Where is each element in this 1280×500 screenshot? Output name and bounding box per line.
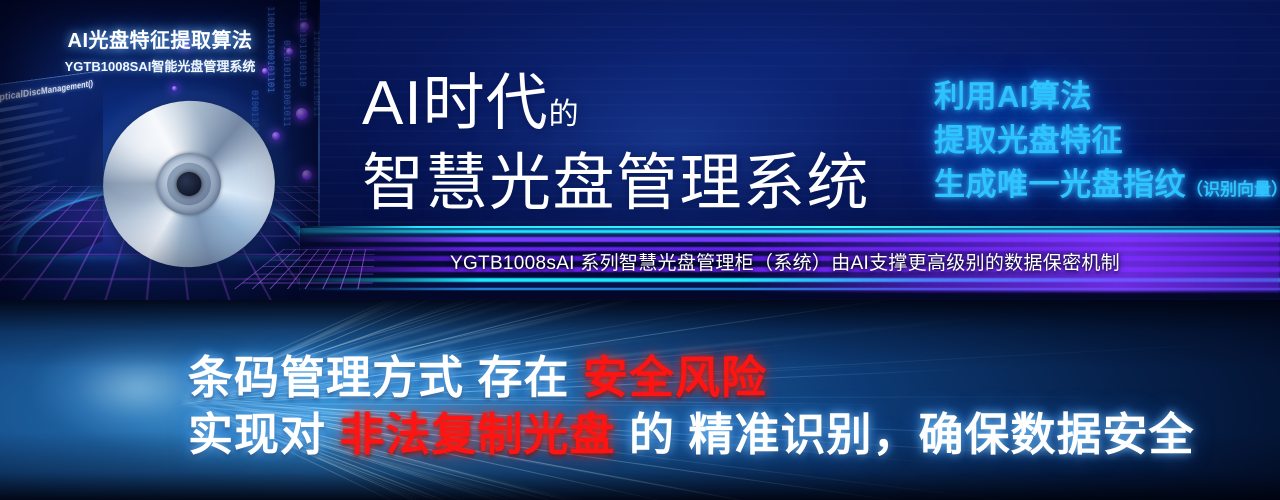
feature-line-1-text: 利用AI算法 — [934, 79, 1092, 114]
feature-line-2-text: 提取光盘特征 — [934, 123, 1123, 158]
feature-line-1: 利用AI算法 — [934, 78, 1092, 116]
bottom-headline-2-part1: 实现对 — [188, 409, 340, 460]
inset-subtitle: YGTB1008SAI智能光盘管理系统 — [0, 56, 320, 75]
bottom-headline-1-part1: 条码管理方式 存在 — [188, 352, 583, 403]
feature-line-3-note: （识别向量） — [1186, 180, 1280, 199]
bottom-headline-1: 条码管理方式 存在 安全风险 — [188, 341, 767, 406]
bar-top-edge — [300, 226, 1280, 228]
top-section: 1100110100101101 0110101101001011 101100… — [0, 0, 1280, 300]
inset-title: AI光盘特征提取算法 — [0, 24, 320, 53]
main-title-line-2: 智慧光盘管理系统 — [362, 146, 870, 222]
feature-line-2: 提取光盘特征 — [934, 122, 1123, 160]
glow-dot — [172, 86, 177, 91]
feature-line-3: 生成唯一光盘指纹（识别向量） — [934, 166, 1280, 209]
subtitle-bar-text: YGTB1008sAI 系列智慧光盘管理柜（系统）由AI支撑更高级别的数据保密机… — [450, 248, 1120, 275]
main-title-big: AI时代 — [362, 69, 549, 138]
banner-root: 1100110100101101 0110101101001011 101100… — [0, 0, 1280, 500]
glow-dot — [302, 170, 312, 180]
main-title-particle: 的 — [549, 98, 580, 131]
bottom-headline-2-part2: 的 精准识别，确保数据安全 — [616, 409, 1195, 460]
bottom-headline-2-highlight: 非法复制光盘 — [340, 409, 616, 460]
bar-left-mesh — [234, 249, 375, 289]
glow-dot — [296, 108, 308, 120]
feature-line-3-text: 生成唯一光盘指纹 — [934, 167, 1186, 202]
bottom-headline-1-highlight: 安全风险 — [583, 352, 767, 403]
main-title-line-1: AI时代的 — [362, 66, 580, 153]
glow-dot — [272, 132, 280, 140]
bottom-headline-2: 实现对 非法复制光盘 的 精准识别，确保数据安全 — [188, 398, 1195, 463]
